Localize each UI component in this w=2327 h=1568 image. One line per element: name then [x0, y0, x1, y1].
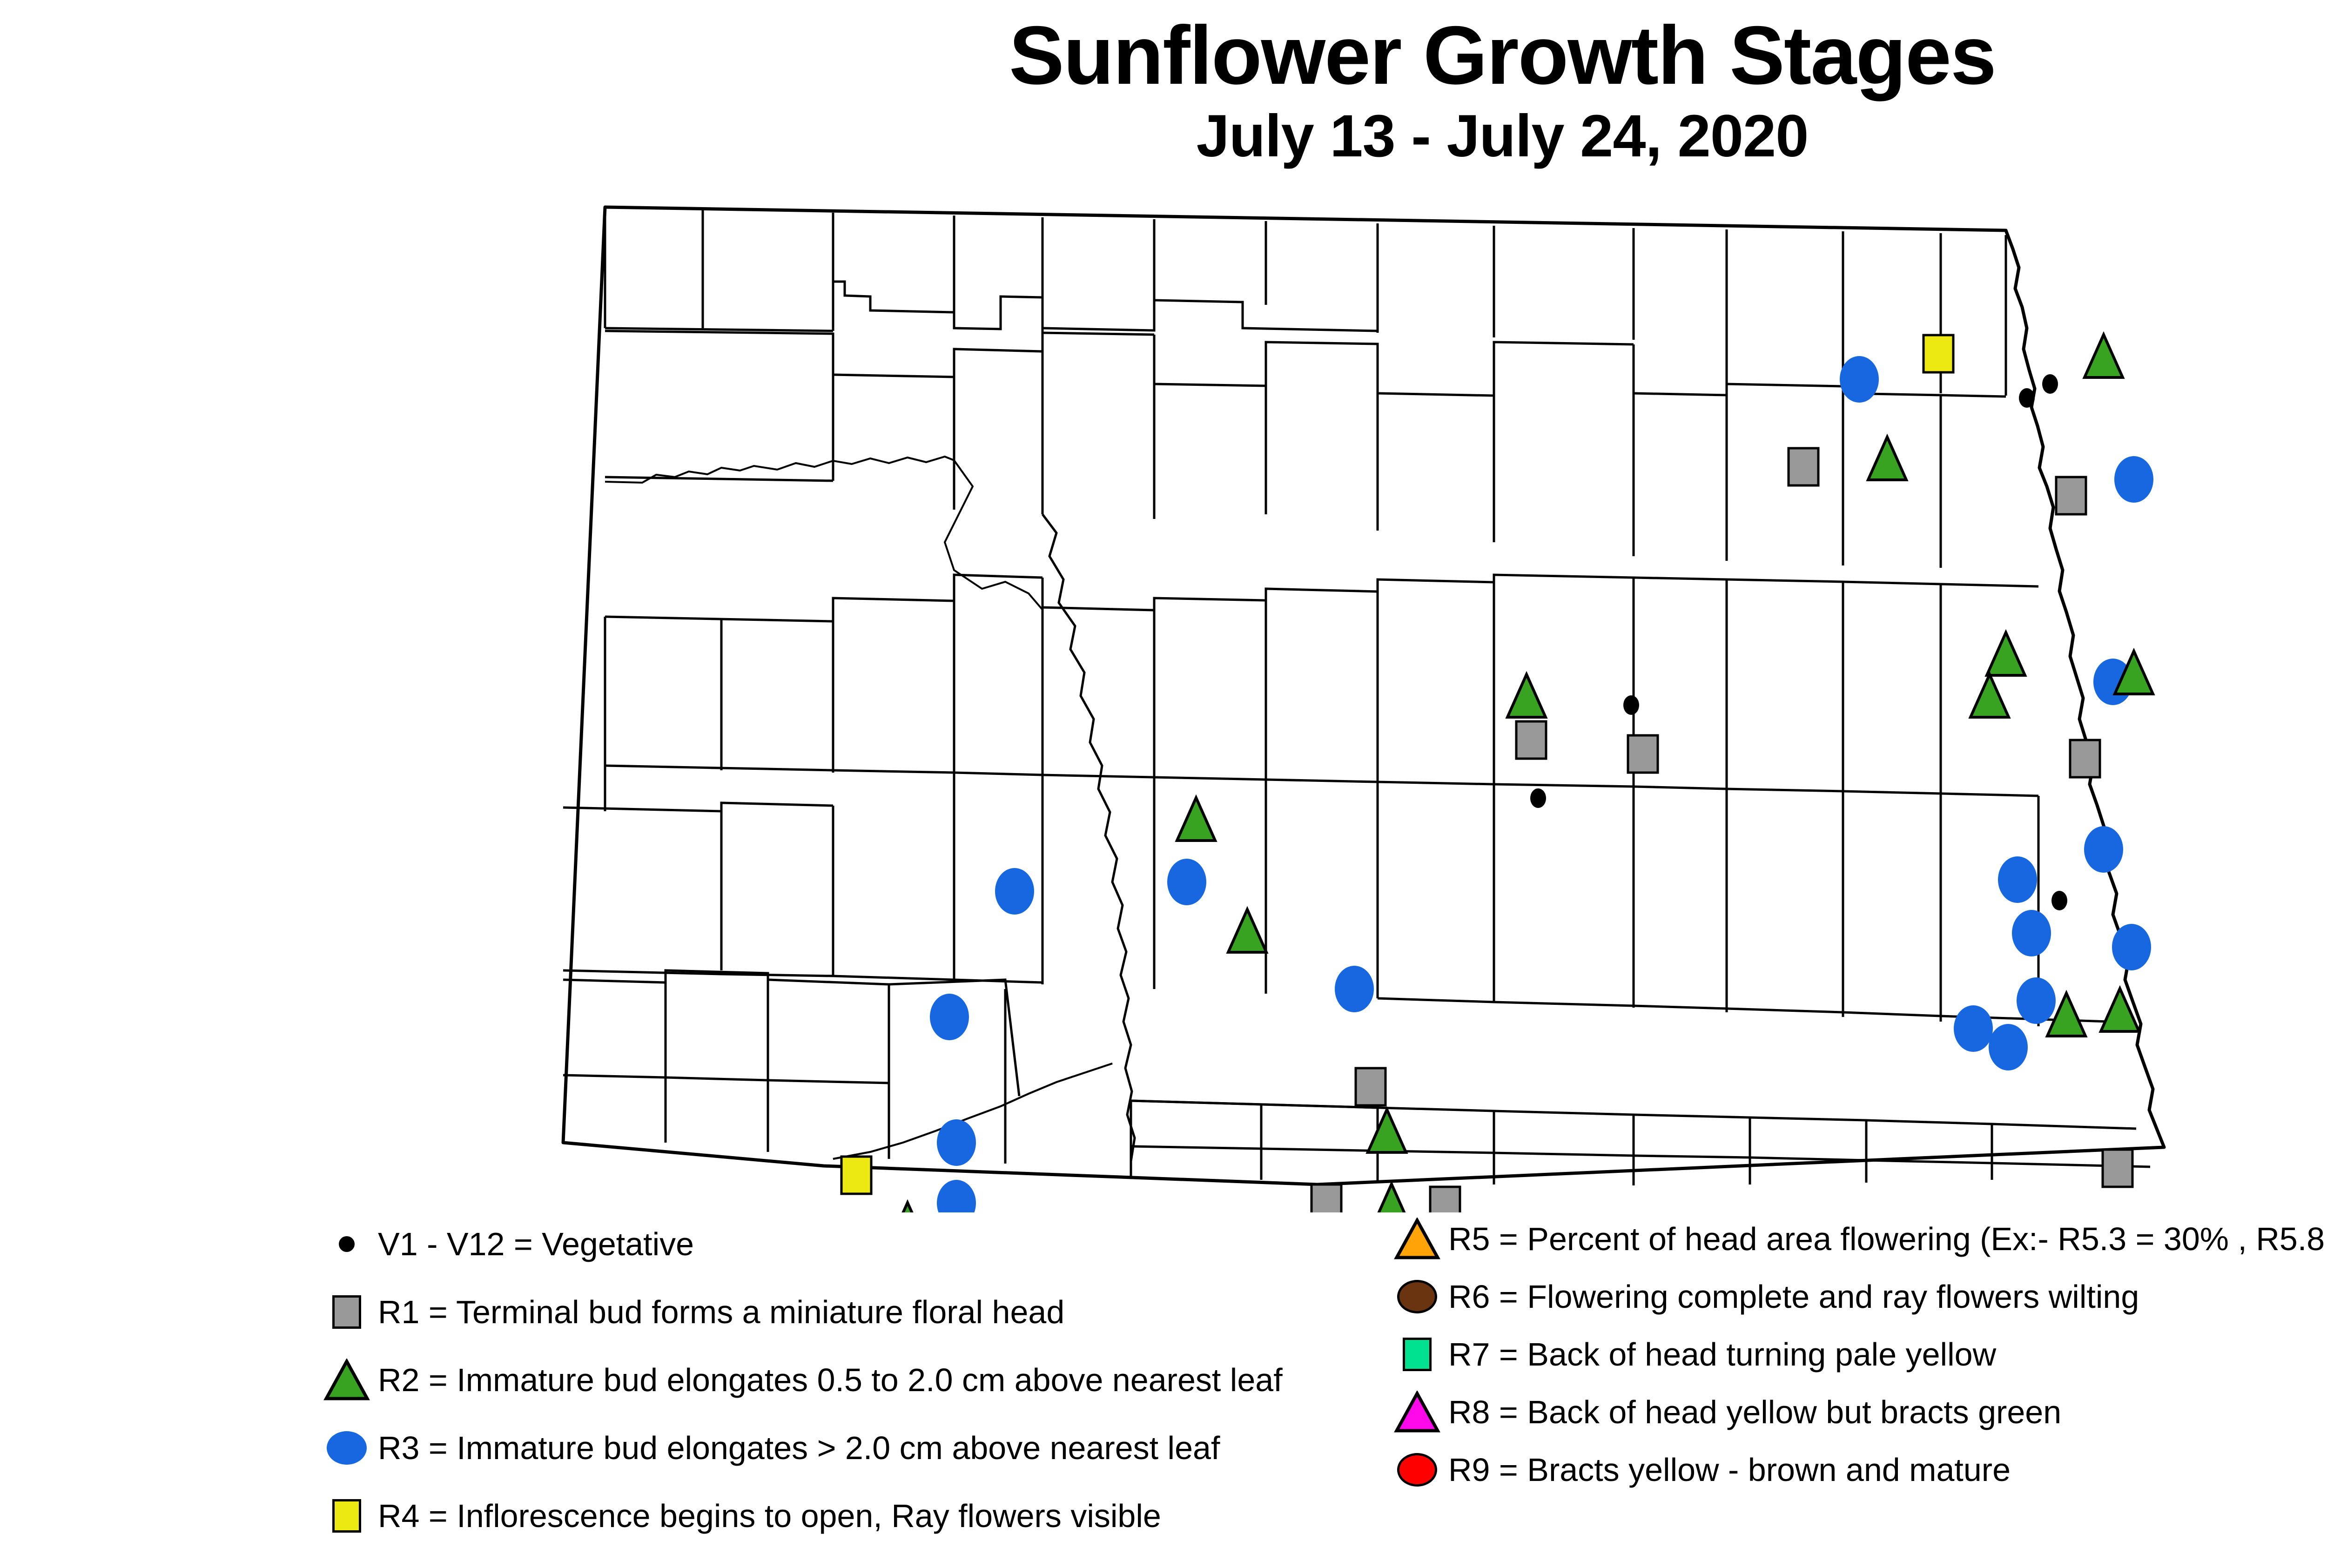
legend-item-r1: R1 = Terminal bud forms a miniature flor… — [321, 1278, 1415, 1346]
black-dot-icon — [321, 1218, 372, 1270]
map-marker-r3 — [2084, 826, 2123, 873]
map-marker-r3 — [1167, 859, 1206, 905]
map-marker-r4 — [1923, 335, 1953, 372]
map-marker-r4 — [841, 1157, 871, 1194]
map-marker-r3 — [930, 994, 969, 1040]
map-marker-v — [1623, 695, 1639, 715]
map-marker-r1 — [2056, 477, 2086, 514]
gray-square-icon — [321, 1286, 372, 1338]
page-subtitle: July 13 - July 24, 2020 — [0, 105, 2327, 168]
map-marker-r3 — [2112, 924, 2151, 970]
red-circle-icon — [1392, 1444, 1443, 1495]
map-marker-v — [2042, 374, 2058, 394]
map-marker-r2 — [1372, 1184, 1411, 1212]
map-marker-r1 — [1430, 1187, 1460, 1212]
map-marker-r3 — [2017, 977, 2056, 1024]
map-marker-r2 — [2085, 335, 2123, 377]
legend-label-r8: R8 = Back of head yellow but bracts gree… — [1448, 1396, 2061, 1428]
map-marker-r3 — [2012, 910, 2051, 956]
orange-triangle-icon — [1392, 1213, 1443, 1265]
green-triangle-icon — [321, 1354, 372, 1406]
legend-label-r7: R7 = Back of head turning pale yellow — [1448, 1338, 1996, 1371]
map-marker-r1 — [1311, 1184, 1341, 1212]
legend-item-r3: R3 = Immature bud elongates > 2.0 cm abo… — [321, 1414, 1415, 1482]
legend-item-r5: R5 = Percent of head area flowering (Ex:… — [1392, 1210, 2327, 1268]
legend-item-r7: R7 = Back of head turning pale yellow — [1392, 1326, 2327, 1383]
legend-item-r8: R8 = Back of head yellow but bracts gree… — [1392, 1383, 2327, 1441]
map-marker-r3 — [1989, 1024, 2028, 1070]
yellow-square-icon — [321, 1490, 372, 1541]
map-marker-r3 — [2114, 456, 2153, 503]
legend-label-r5: R5 = Percent of head area flowering (Ex:… — [1448, 1223, 2327, 1255]
map-marker-v — [2019, 388, 2035, 408]
legend-item-r4: R4 = Inflorescence begins to open, Ray f… — [321, 1482, 1415, 1550]
legend-item-r6: R6 = Flowering complete and ray flowers … — [1392, 1268, 2327, 1326]
map-marker-r1 — [1516, 721, 1546, 759]
legend-label-r3: R3 = Immature bud elongates > 2.0 cm abo… — [378, 1432, 1220, 1464]
map-marker-r1 — [2103, 1150, 2132, 1187]
legend-label-r9: R9 = Bracts yellow - brown and mature — [1448, 1454, 2011, 1486]
legend-label-r4: R4 = Inflorescence begins to open, Ray f… — [378, 1500, 1161, 1532]
legend-item-r2: R2 = Immature bud elongates 0.5 to 2.0 c… — [321, 1346, 1415, 1414]
spring-green-square-icon — [1392, 1329, 1443, 1380]
map-marker-v — [2051, 891, 2067, 910]
magenta-triangle-icon — [1392, 1386, 1443, 1438]
map-marker-r3 — [1998, 856, 2037, 903]
legend-label-r6: R6 = Flowering complete and ray flowers … — [1448, 1280, 2139, 1313]
page-title: Sunflower Growth Stages — [0, 14, 2327, 97]
legend-column-right: R5 = Percent of head area flowering (Ex:… — [1392, 1210, 2327, 1499]
legend-label-r1: R1 = Terminal bud forms a miniature flor… — [378, 1296, 1064, 1328]
map-marker-r3 — [937, 1119, 976, 1166]
blue-circle-icon — [321, 1422, 372, 1474]
legend-label-r2: R2 = Immature bud elongates 0.5 to 2.0 c… — [378, 1364, 1283, 1396]
map-marker-r1 — [1356, 1068, 1385, 1105]
map-marker-r3 — [937, 1180, 976, 1212]
map-marker-r1 — [1628, 735, 1658, 773]
north-dakota-county-map — [535, 188, 2173, 1212]
map-marker-r3 — [1840, 356, 1879, 403]
legend-column-left: V1 - V12 = Vegetative R1 = Terminal bud … — [321, 1210, 1415, 1550]
legend-label-v: V1 - V12 = Vegetative — [378, 1228, 694, 1260]
map-marker-r3 — [1954, 1005, 1993, 1052]
chart-title-block: Sunflower Growth Stages July 13 - July 2… — [0, 14, 2327, 168]
map-marker-r1 — [1789, 448, 1818, 485]
brown-circle-icon — [1392, 1271, 1443, 1322]
map-marker-v — [1530, 788, 1546, 808]
legend: V1 - V12 = Vegetative R1 = Terminal bud … — [0, 1210, 2327, 1564]
legend-item-r9: R9 = Bracts yellow - brown and mature — [1392, 1441, 2327, 1499]
legend-item-v: V1 - V12 = Vegetative — [321, 1210, 1415, 1278]
map-marker-r3 — [995, 868, 1034, 915]
map-marker-r1 — [2070, 740, 2100, 777]
map-marker-r3 — [1335, 966, 1374, 1012]
